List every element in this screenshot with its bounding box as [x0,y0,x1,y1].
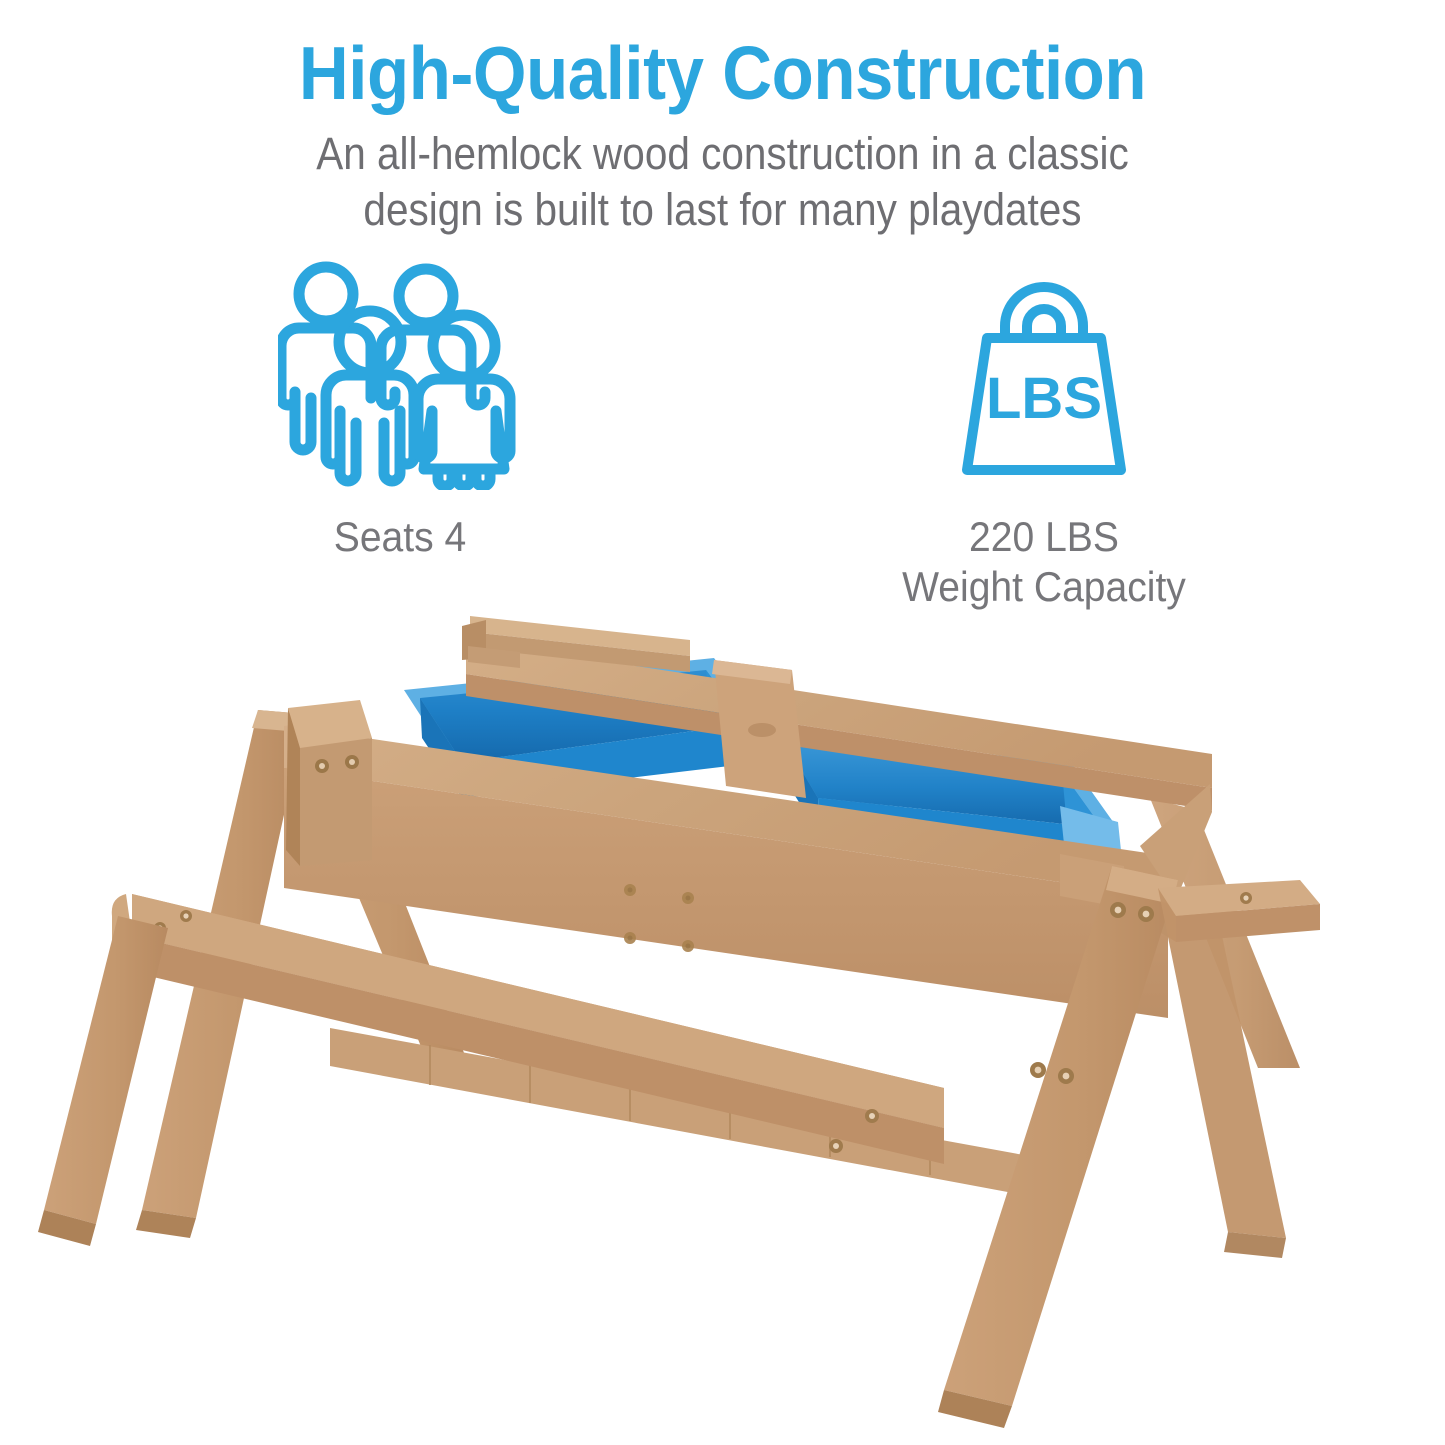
feature-weight-caption-line-1: 220 LBS [838,512,1251,562]
table-leg-back-right-lower [1158,888,1286,1258]
bench-seat-right [1158,880,1320,942]
product-image [0,598,1445,1445]
feature-weight-capacity: LBS 220 LBS Weight Capacity [822,258,1266,612]
infographic-page: High-Quality Construction An all-hemlock… [0,0,1445,1445]
table-left-end-bracket [286,700,372,866]
page-title: High-Quality Construction [58,36,1387,111]
feature-seats-caption-line-1: Seats 4 [194,512,607,562]
feature-seats: Seats 4 [178,258,622,562]
weight-bag-icon-label: LBS [986,366,1102,431]
table-bin-divider [712,660,806,798]
page-subtitle-line-1: An all-hemlock wood construction in a cl… [272,126,1173,182]
group-of-four-people-icon [178,258,622,490]
weight-bag-icon: LBS [822,258,1266,490]
page-subtitle: An all-hemlock wood construction in a cl… [272,126,1173,238]
page-subtitle-line-2: design is built to last for many playdat… [272,182,1173,238]
feature-seats-caption: Seats 4 [194,512,607,562]
feature-weight-caption: 220 LBS Weight Capacity [838,512,1251,612]
